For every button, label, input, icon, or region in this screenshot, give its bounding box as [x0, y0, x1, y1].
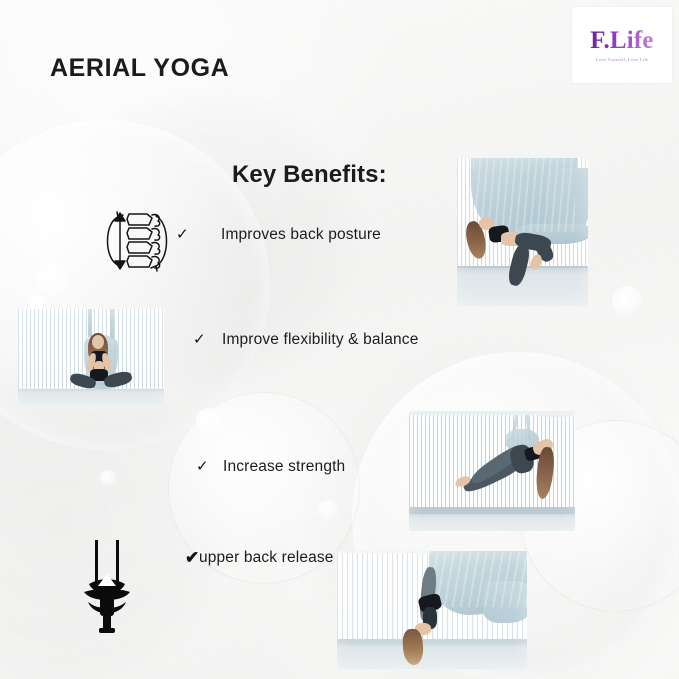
- brand-logo: F.Life Love Yourself, Love Life: [572, 7, 672, 83]
- benefit-label: Improve flexibility & balance: [222, 331, 418, 349]
- aerial-yoga-infographic: F.Life Love Yourself, Love Life AERIAL Y…: [0, 0, 679, 679]
- check-icon: ✓: [193, 332, 209, 347]
- check-icon: ✓: [196, 459, 212, 474]
- spine-icon: [98, 205, 176, 277]
- check-icon: ✔: [185, 549, 199, 566]
- benefit-item-flexibility-balance: ✓ Improve flexibility & balance: [193, 331, 418, 349]
- brand-logo-tagline: Love Yourself, Love Life: [595, 58, 648, 63]
- check-icon: ✓: [176, 227, 192, 242]
- benefit-item-upper-back-release: ✔ upper back release: [185, 549, 334, 567]
- brand-logo-name: F.Life: [590, 28, 653, 53]
- photo-woman-in-hammock-inversion: [457, 158, 588, 306]
- aerial-hang-silhouette-icon: [62, 540, 154, 640]
- benefit-item-back-posture: ✓ Improves back posture: [176, 226, 381, 244]
- photo-woman-upside-down-cocoon: [337, 551, 527, 669]
- benefit-label: Increase strength: [223, 458, 345, 476]
- photo-woman-extended-inversion: [409, 411, 575, 531]
- photo-woman-seated-prayer-pose: [18, 309, 164, 405]
- section-subtitle: Key Benefits:: [232, 161, 387, 189]
- benefit-label: Improves back posture: [221, 226, 381, 244]
- page-title: AERIAL YOGA: [50, 54, 229, 83]
- benefit-label: upper back release: [199, 549, 334, 567]
- benefit-item-increase-strength: ✓ Increase strength: [196, 458, 345, 476]
